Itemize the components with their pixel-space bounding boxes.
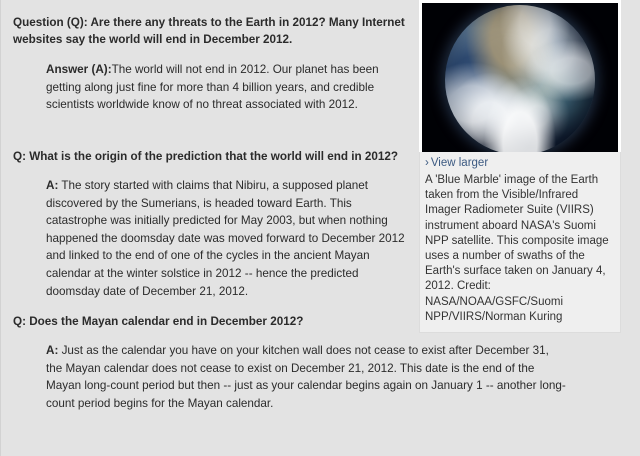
chevron-right-icon: ›: [425, 157, 429, 169]
earth-globe-icon: [445, 5, 595, 153]
faq-item-1: Question (Q): Are there any threats to t…: [13, 14, 411, 114]
figure-caption-box: ›View larger A 'Blue Marble' image of th…: [419, 152, 621, 333]
faq-answer-text-3: Just as the calendar you have on your ki…: [46, 344, 566, 410]
view-larger-link[interactable]: ›View larger: [425, 156, 615, 171]
faq-answer-1: Answer (A):The world will not end in 201…: [13, 61, 411, 114]
faq-item-2: Q: What is the origin of the prediction …: [13, 148, 411, 300]
figure-caption-text: A 'Blue Marble' image of the Earth taken…: [425, 173, 615, 325]
figure-frame: [419, 0, 621, 152]
faq-answer-label-1: Answer (A):: [46, 63, 112, 76]
view-larger-label: View larger: [431, 157, 488, 169]
faq-question-2: Q: What is the origin of the prediction …: [13, 148, 411, 165]
faq-answer-2: A: The story started with claims that Ni…: [13, 177, 411, 300]
faq-answer-label-2: A:: [46, 179, 58, 192]
faq-page: ›View larger A 'Blue Marble' image of th…: [0, 0, 640, 456]
earth-photo[interactable]: [422, 3, 618, 152]
figure-rail: ›View larger A 'Blue Marble' image of th…: [419, 0, 629, 333]
faq-question-1: Question (Q): Are there any threats to t…: [13, 14, 411, 48]
faq-item-3: Q: Does the Mayan calendar end in Decemb…: [13, 313, 533, 412]
faq-answer-label-3: A:: [46, 344, 58, 357]
faq-answer-3: A: Just as the calendar you have on your…: [13, 342, 566, 412]
faq-question-3: Q: Does the Mayan calendar end in Decemb…: [13, 313, 533, 330]
earth-clouds-overlay: [445, 5, 595, 153]
faq-answer-text-2: The story started with claims that Nibir…: [46, 179, 405, 298]
